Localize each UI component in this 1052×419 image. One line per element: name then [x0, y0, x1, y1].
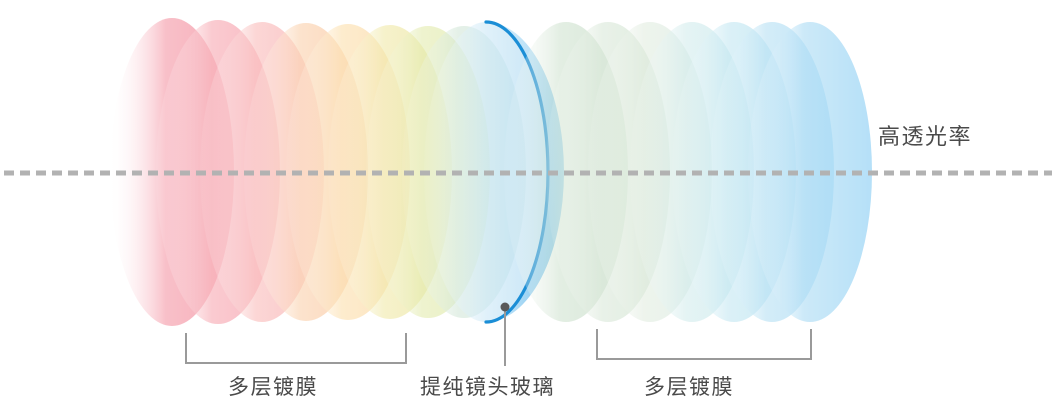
left-coating-bracket — [186, 333, 406, 363]
label-left-coating: 多层镀膜 — [228, 371, 318, 401]
lens-diagram: 多层镀膜 提纯镜头玻璃 多层镀膜 高透光率 — [0, 0, 1052, 419]
label-high-transmittance: 高透光率 — [878, 119, 972, 151]
right-coating-bracket — [597, 329, 811, 359]
label-right-coating: 多层镀膜 — [644, 371, 734, 401]
center-glass-pointer-dot — [501, 303, 510, 312]
lens-stack-graphic — [0, 0, 1052, 419]
right-coating-lens-group — [504, 22, 872, 322]
label-center-glass: 提纯镜头玻璃 — [420, 371, 555, 401]
